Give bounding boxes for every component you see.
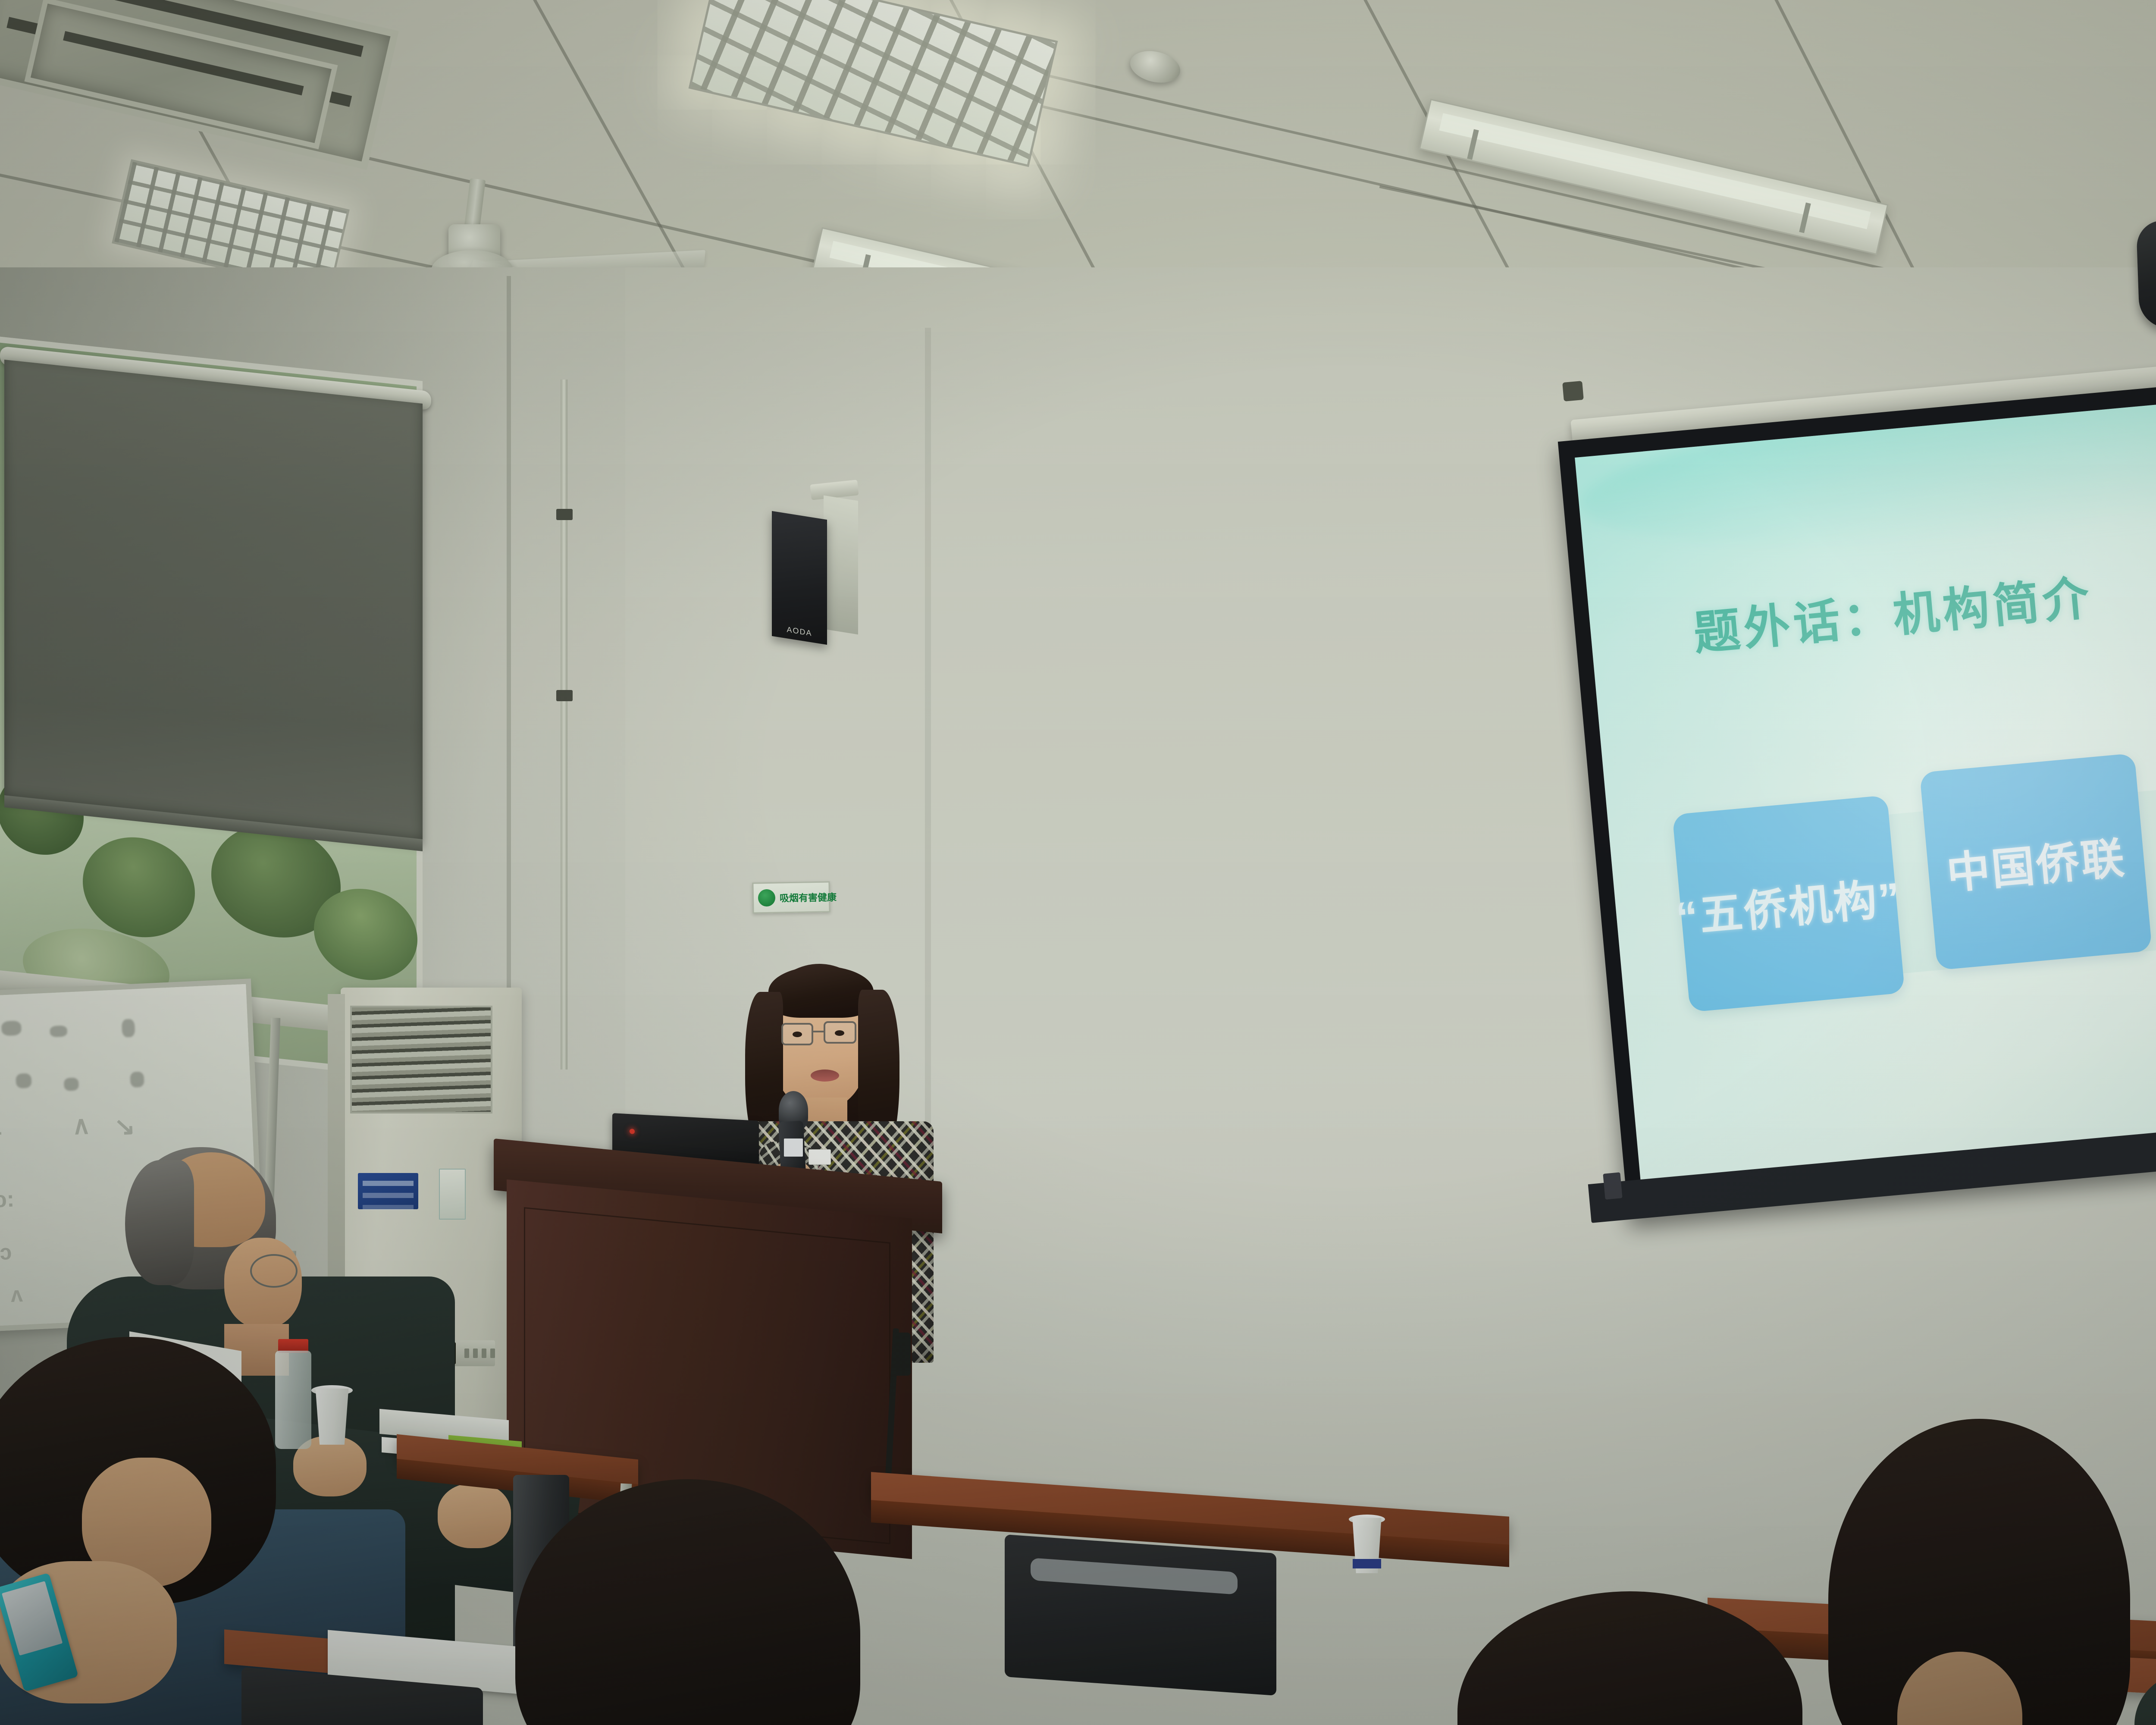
ac-energy-label <box>439 1169 466 1220</box>
podium-cable-connector <box>893 1333 911 1376</box>
wall-sign-text: 吸烟有害健康 <box>780 890 837 904</box>
conduit-clip <box>556 690 573 701</box>
conduit-clip <box>556 509 573 520</box>
projected-slide: 题外话：机构简介 “五侨机构” 中国侨联 “侨研所” <box>1575 369 2156 1193</box>
presenter-name-badge <box>808 1149 831 1165</box>
paper-cup-band <box>1353 1559 1381 1568</box>
microphone-label <box>784 1138 803 1157</box>
ac-grille <box>350 1006 492 1113</box>
classroom-photo-scene: Redle 题外话：机构简介 “五侨机构” 中国侨联 <box>0 0 2156 1725</box>
slide-card-1[interactable]: “五侨机构” <box>1672 795 1905 1012</box>
audience-hair-side-1 <box>125 1160 194 1285</box>
window-blind[interactable] <box>4 360 423 844</box>
speaker-side-panel <box>824 496 858 635</box>
slide-card-2[interactable]: 中国侨联 <box>1920 753 2153 970</box>
presenter-eye <box>793 1032 802 1037</box>
screen-pull-handle[interactable] <box>1603 1172 1622 1199</box>
screen-mount-bracket <box>1562 381 1584 401</box>
ac-blue-sticker <box>358 1173 418 1209</box>
presenter-eye <box>835 1030 844 1036</box>
audience-glasses-1 <box>250 1254 298 1288</box>
presenter-glasses-bridge <box>812 1031 824 1032</box>
health-leaf-icon <box>758 889 776 907</box>
chair-back[interactable] <box>1005 1534 1276 1696</box>
presenter-mouth <box>811 1069 839 1082</box>
ac-button-group-right[interactable] <box>464 1349 495 1358</box>
laptop-led-icon <box>630 1129 635 1134</box>
slide-card-2-label: 中国侨联 <box>1944 822 2128 901</box>
no-smoking-health-sign: 吸烟有害健康 <box>752 881 830 913</box>
slide-card-1-label: “五侨机构” <box>1673 862 1904 945</box>
water-bottle[interactable] <box>275 1351 311 1449</box>
wall-speaker-icon: AODA <box>772 511 827 645</box>
audience-hand-2 <box>438 1483 511 1548</box>
wall-conduit <box>561 379 567 1069</box>
